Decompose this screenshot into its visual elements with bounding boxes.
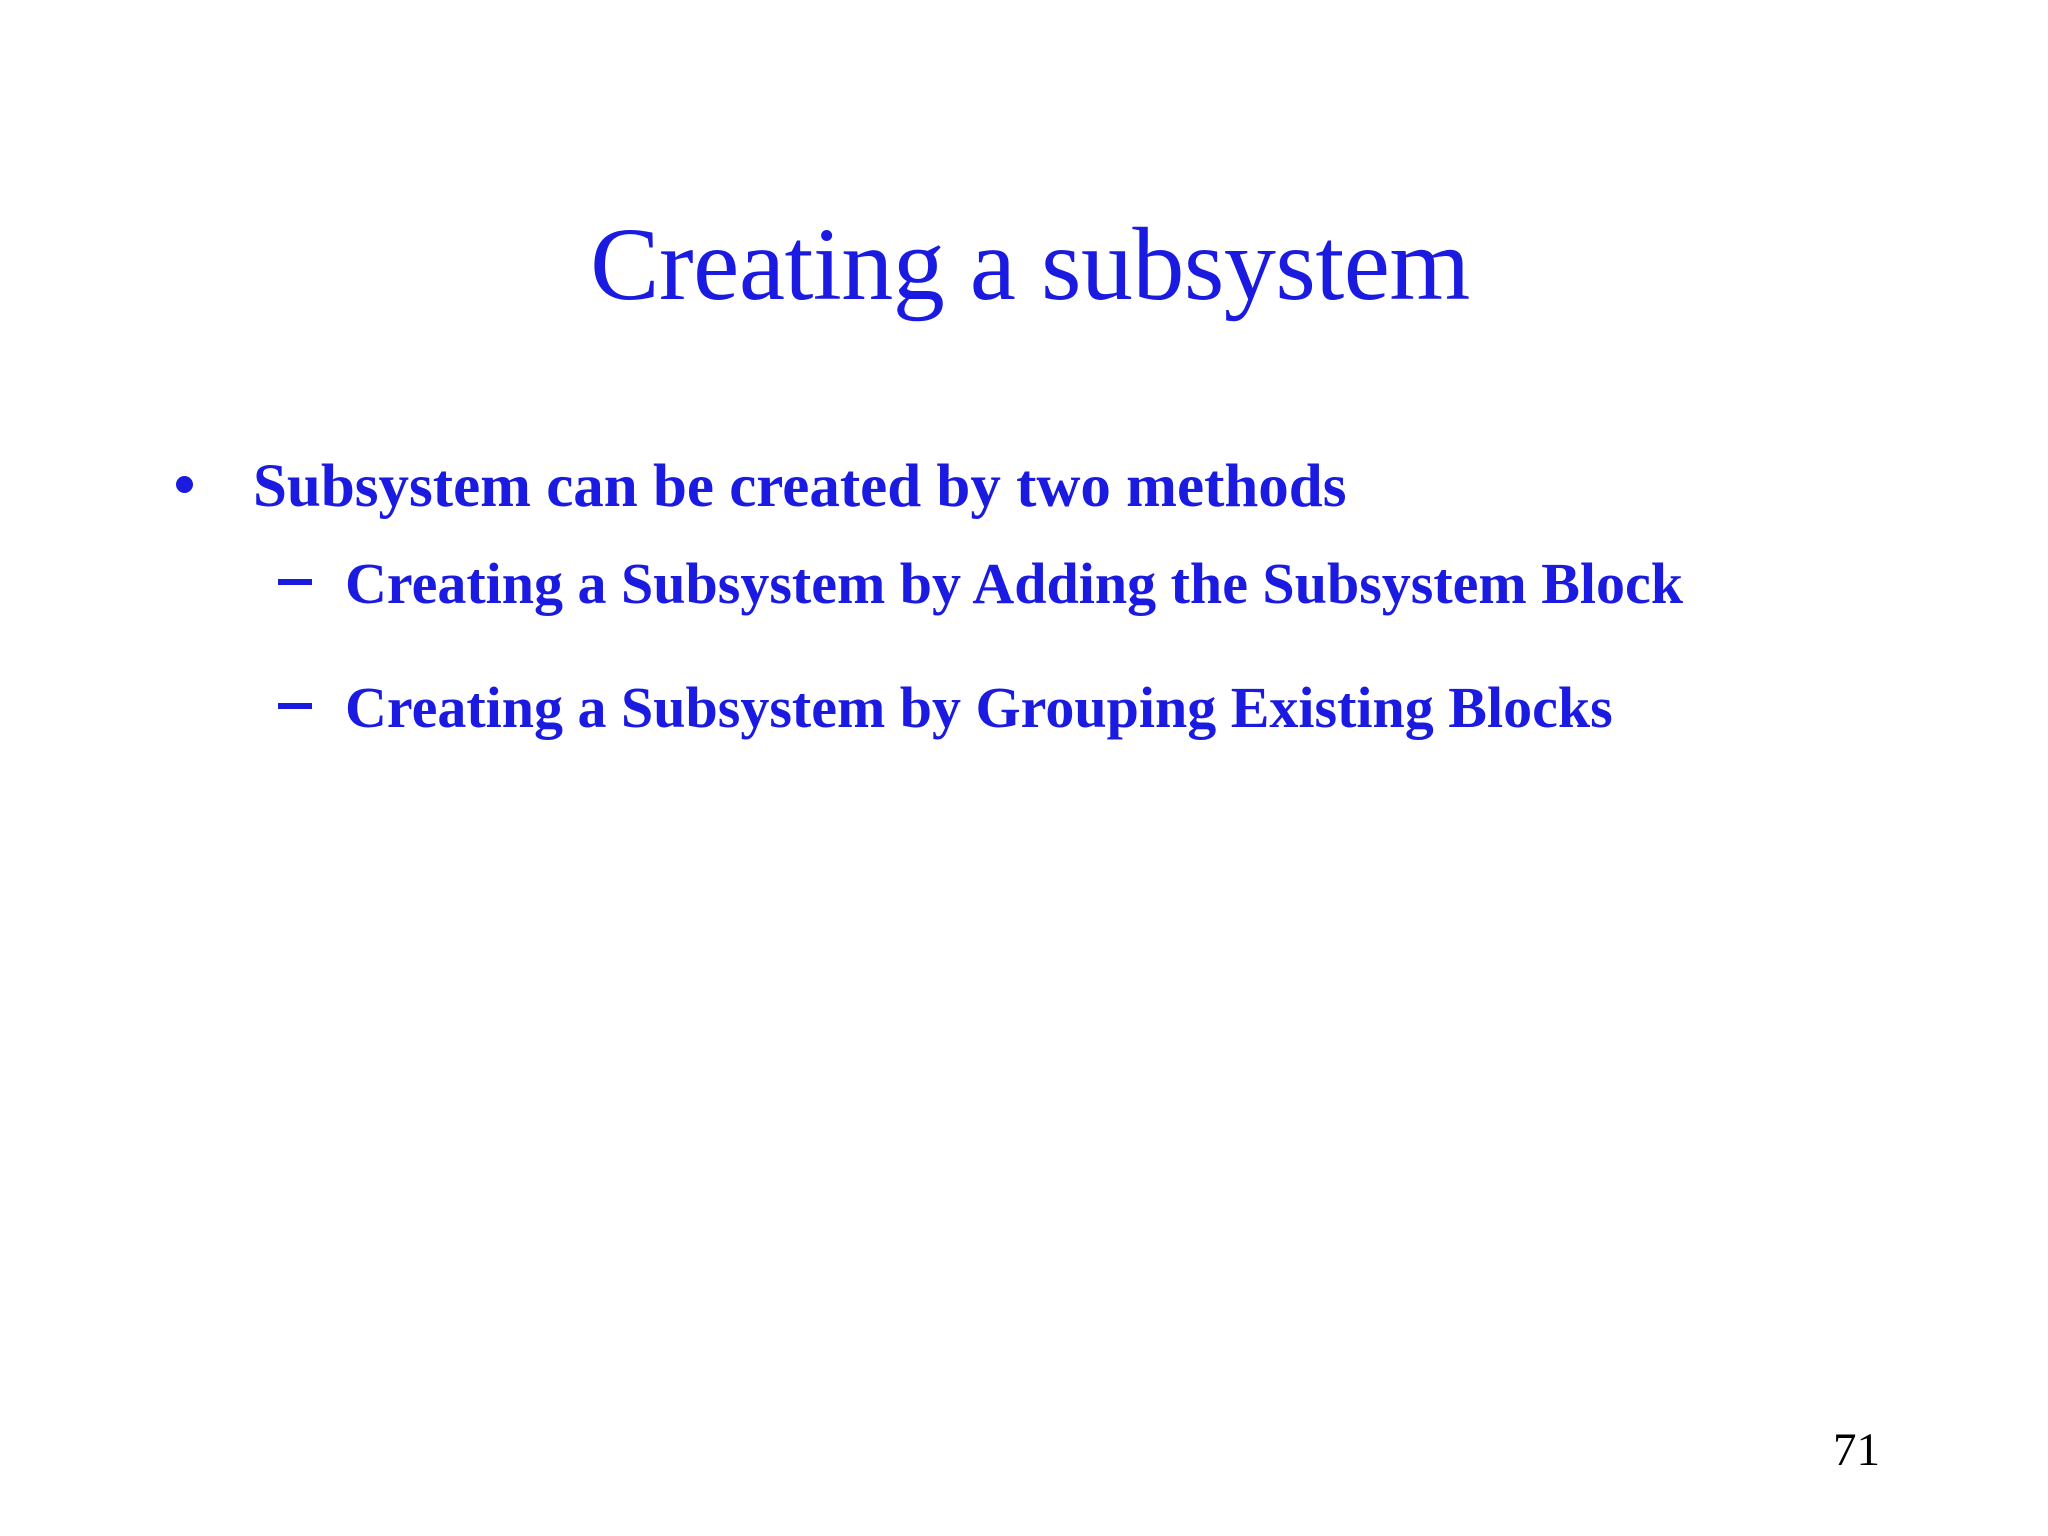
bullet-item-level1-label: Subsystem can be created by two methods: [253, 453, 1346, 520]
page-title: Creating a subsystem: [200, 210, 1860, 319]
bullet-item-level2: Creating a Subsystem by Grouping Existin…: [160, 674, 1920, 742]
bullet-item-level2: Creating a Subsystem by Adding the Subsy…: [160, 550, 1995, 618]
bullet-item-level2-label: Creating a Subsystem by Grouping Existin…: [345, 674, 1920, 742]
bullet-item-level1: Subsystem can be created by two methods: [160, 452, 1920, 522]
dash-bullet-icon: [278, 579, 312, 585]
bullet-item-level2-label: Creating a Subsystem by Adding the Subsy…: [345, 550, 1995, 618]
bullet-dot-icon: [176, 476, 193, 493]
presentation-slide: Creating a subsystem Subsystem can be cr…: [0, 0, 2048, 1536]
dash-bullet-icon: [278, 703, 312, 709]
slide-body-content: Subsystem can be created by two methods …: [160, 452, 1920, 742]
page-number: 71: [1833, 1427, 1880, 1474]
